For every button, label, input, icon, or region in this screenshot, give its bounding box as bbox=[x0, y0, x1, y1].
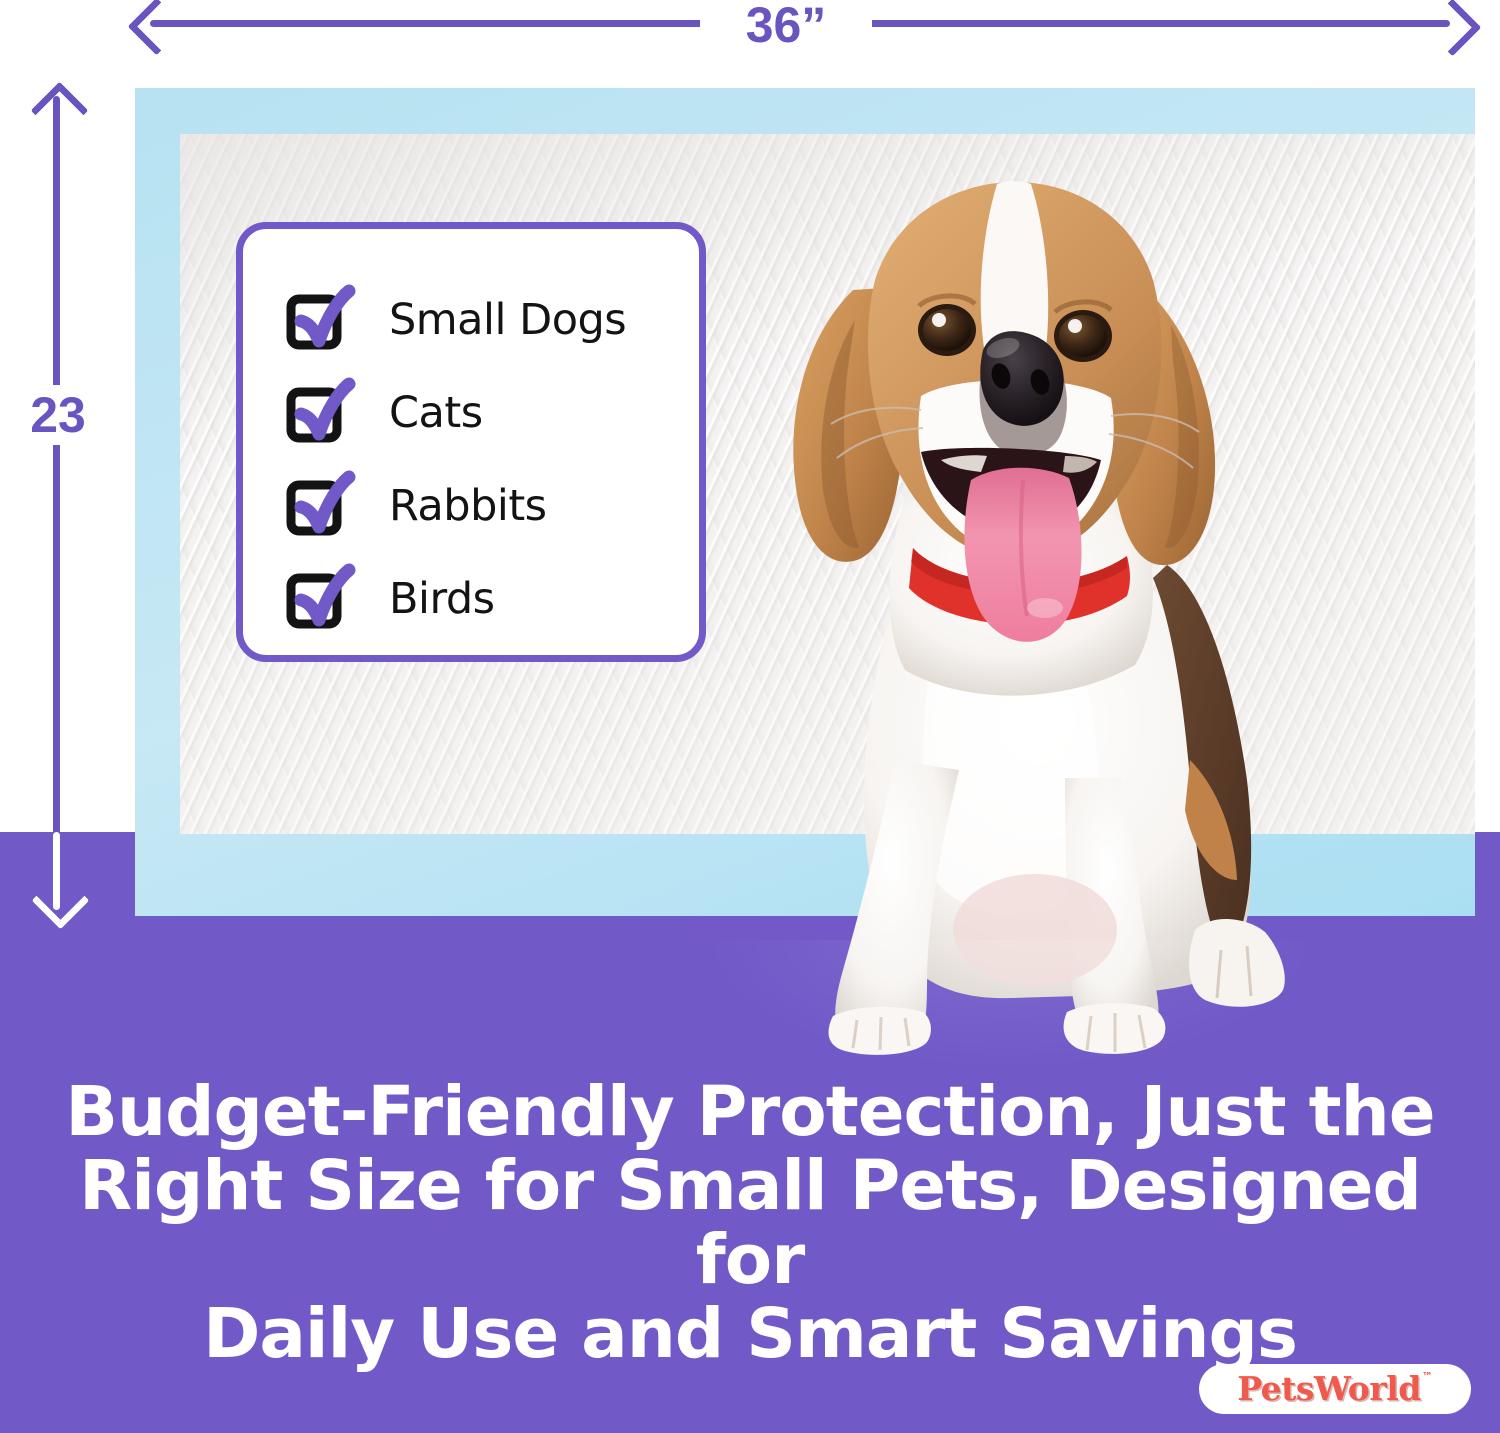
beagle-dog-photo bbox=[735, 160, 1295, 1060]
petsworld-logo: PetsWorld ™ bbox=[1199, 1364, 1471, 1414]
headline-text: Budget-Friendly Protection, Just the Rig… bbox=[60, 1075, 1440, 1371]
checklist-item-label: Rabbits bbox=[389, 481, 547, 531]
logo-brand-text: PetsWorld bbox=[1237, 1372, 1421, 1406]
checklist-item[interactable]: Cats bbox=[287, 366, 699, 459]
headline-line-1: Budget-Friendly Protection, Just the bbox=[60, 1075, 1440, 1149]
headline-line-2: Right Size for Small Pets, Designed for bbox=[60, 1149, 1440, 1297]
checkbox-checked-icon[interactable] bbox=[287, 291, 349, 349]
checklist-item[interactable]: Birds bbox=[287, 552, 699, 645]
height-dimension-label: 23 bbox=[8, 385, 108, 445]
checklist-item[interactable]: Small Dogs bbox=[287, 273, 699, 366]
trademark-symbol: ™ bbox=[1422, 1370, 1433, 1383]
headline-line-3: Daily Use and Smart Savings bbox=[60, 1297, 1440, 1371]
checklist-item-label: Small Dogs bbox=[389, 295, 626, 345]
checkbox-checked-icon[interactable] bbox=[287, 477, 349, 535]
checklist-item-label: Cats bbox=[389, 388, 483, 438]
checkbox-checked-icon[interactable] bbox=[287, 384, 349, 442]
dog-belly-pink bbox=[953, 874, 1117, 986]
product-infographic: Small Dogs Cats Rabbits bbox=[0, 0, 1500, 1433]
checklist-item[interactable]: Rabbits bbox=[287, 459, 699, 552]
arrow-right-icon bbox=[1424, 0, 1482, 56]
width-dimension-label: 36” bbox=[700, 0, 872, 50]
dog-hind-paw bbox=[1189, 919, 1285, 1007]
arrow-left-icon bbox=[128, 0, 186, 55]
height-dimension-line-upper bbox=[53, 96, 60, 836]
checkbox-checked-icon[interactable] bbox=[287, 570, 349, 628]
dog-tongue-shine bbox=[1027, 598, 1063, 618]
compatible-pets-checklist: Small Dogs Cats Rabbits bbox=[236, 222, 706, 662]
checklist-item-label: Birds bbox=[389, 574, 495, 624]
arrow-up-icon bbox=[31, 82, 89, 140]
